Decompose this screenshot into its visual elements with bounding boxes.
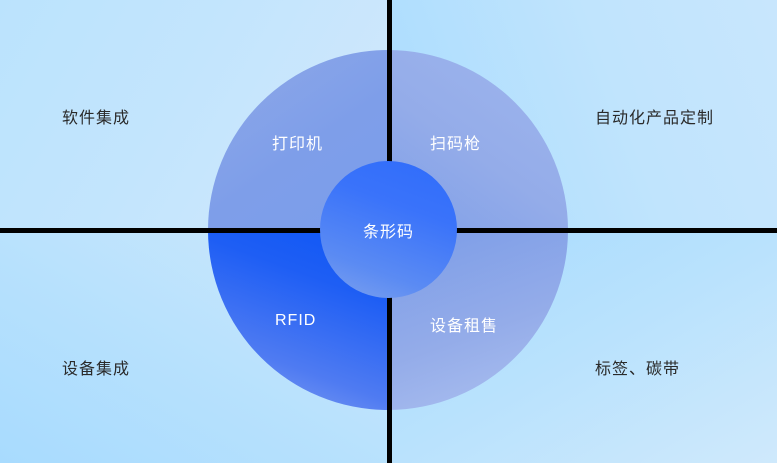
quadrant-label-top-right: 自动化产品定制 (595, 104, 714, 128)
core-circle: 条形码 (320, 161, 457, 298)
segment-label-bottom-right: 设备租售 (430, 312, 498, 336)
quadrant-label-top-left: 软件集成 (62, 104, 130, 128)
core-label: 条形码 (363, 218, 414, 242)
quadrant-label-bottom-left: 设备集成 (62, 355, 130, 379)
quadrant-label-bottom-right: 标签、碳带 (595, 355, 680, 379)
segment-label-top-left: 打印机 (272, 130, 323, 154)
segment-label-top-right: 扫码枪 (430, 130, 481, 154)
segment-label-bottom-left: RFID (275, 312, 316, 330)
diagram-canvas: 条形码 打印机 扫码枪 RFID 设备租售 软件集成 自动化产品定制 设备集成 … (0, 0, 777, 463)
